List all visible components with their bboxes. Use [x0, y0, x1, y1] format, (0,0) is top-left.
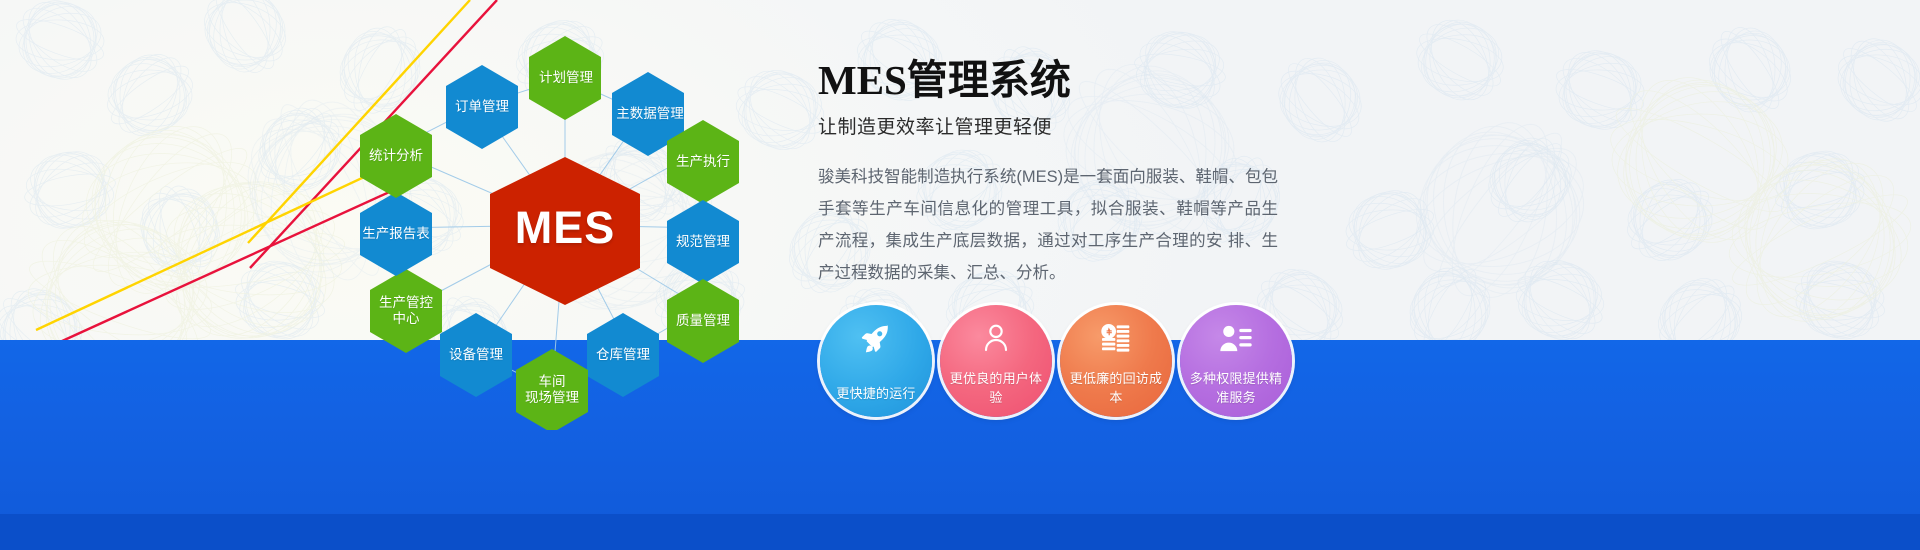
mes-hexagon-diagram: 计划管理 主数据管理 生产执行 规范管理 质量管理 仓库管理 车间 现场管理 设… [330, 10, 800, 430]
feature-badge-label: 更低廉的回访成本 [1068, 369, 1164, 407]
feature-badge-label: 更快捷的运行 [828, 384, 924, 403]
coins-icon [1060, 322, 1172, 354]
user-icon [940, 322, 1052, 354]
feature-badge-experience[interactable]: 更优良的用户体验 [940, 305, 1052, 417]
page-subtitle: 让制造更效率让管理更轻便 [818, 112, 1338, 139]
rocket-icon [820, 322, 932, 356]
feature-badge-faster[interactable]: 更快捷的运行 [820, 305, 932, 417]
mes-banner: 计划管理 主数据管理 生产执行 规范管理 质量管理 仓库管理 车间 现场管理 设… [0, 0, 1920, 550]
feature-badge-permissions[interactable]: 多种权限提供精准服务 [1180, 305, 1292, 417]
feature-badge-label: 多种权限提供精准服务 [1188, 369, 1284, 407]
feature-badge-cost[interactable]: 更低廉的回访成本 [1060, 305, 1172, 417]
page-title: MES管理系统 [818, 58, 1338, 104]
blue-footer-band-dark [0, 514, 1920, 550]
feature-badge-list: 更快捷的运行 更优良的用户体验 [820, 305, 1292, 417]
page-description: 骏美科技智能制造执行系统(MES)是一套面向服装、鞋帽、包包手套等生产车间信息化… [818, 161, 1278, 289]
banner-text-block: MES管理系统 让制造更效率让管理更轻便 骏美科技智能制造执行系统(MES)是一… [818, 58, 1338, 289]
feature-badge-label: 更优良的用户体验 [948, 369, 1044, 407]
user-list-icon [1180, 322, 1292, 354]
